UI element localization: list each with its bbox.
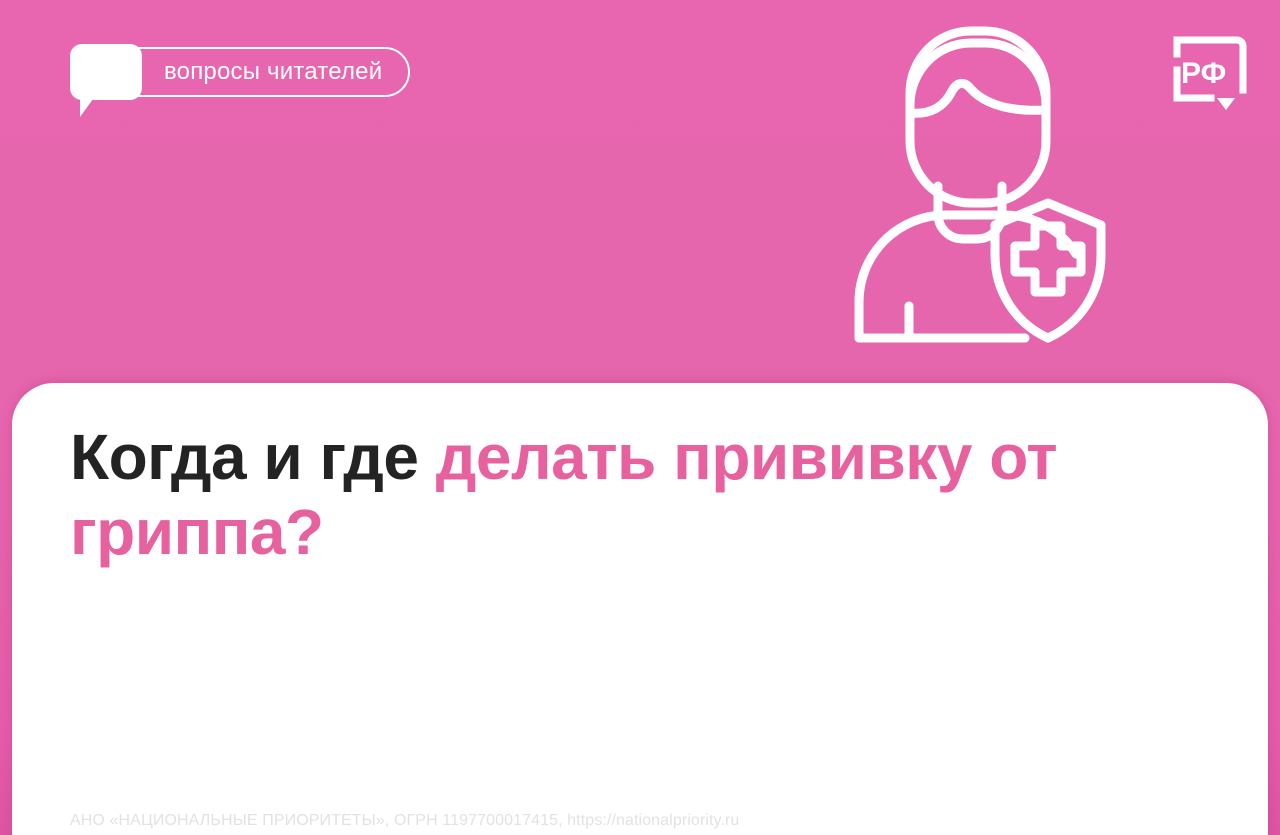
content-card: Когда и где делать прививку от гриппа? А… <box>12 383 1268 835</box>
badge-pill: вопросы читателей <box>114 47 410 97</box>
badge-label: вопросы читателей <box>164 60 382 84</box>
rf-logo-text: РФ <box>1181 57 1226 90</box>
headline-dark-part: Когда и где <box>70 421 436 493</box>
page-title: Когда и где делать прививку от гриппа? <box>70 420 1228 570</box>
legal-footer: АНО «НАЦИОНАЛЬНЫЕ ПРИОРИТЕТЫ», ОГРН 1197… <box>70 812 739 830</box>
person-with-shield-illustration <box>845 18 1135 348</box>
rf-logo: РФ <box>1167 32 1255 114</box>
speech-bubble-icon <box>70 44 142 100</box>
reader-questions-badge: вопросы читателей <box>70 44 410 100</box>
poster-canvas: вопросы читателей РФ <box>0 0 1280 835</box>
